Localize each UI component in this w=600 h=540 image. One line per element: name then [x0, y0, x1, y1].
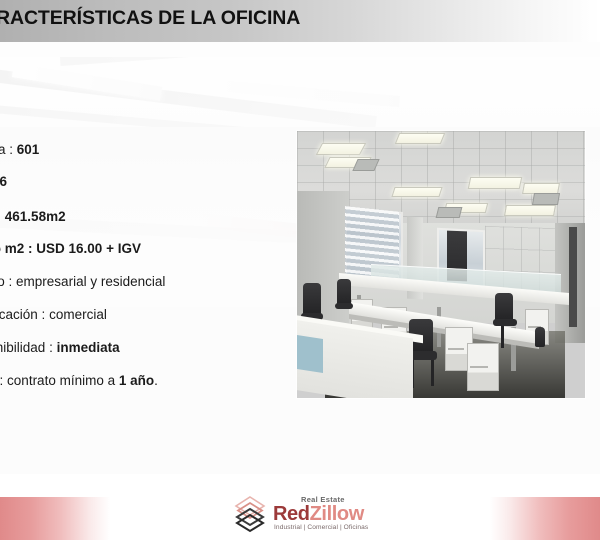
logo-word: RedZillow	[273, 503, 364, 526]
footer-band-right	[490, 497, 600, 540]
logo-tagline-bottom: Industrial | Comercial | Oficinas	[274, 524, 368, 531]
spec-item-area: rea : 461.58m2	[0, 209, 66, 224]
slide-content: ficina : 601 so : 6 rea : 461.58m2 ecio …	[0, 42, 600, 474]
spec-item-plazo: azo : contrato mínimo a 1 año.	[0, 373, 158, 388]
logo-word-red: Red	[273, 503, 310, 525]
spec-item-entorno: torno : empresarial y residencial	[0, 274, 165, 289]
logo-wordmark: Real Estate RedZillow Industrial | Comer…	[273, 494, 379, 534]
slide: ARACTERÍSTICAS DE LA OFICINA ficina : 60…	[0, 0, 600, 474]
spec-item-piso: so : 6	[0, 174, 7, 189]
office-interior-photo	[297, 131, 585, 398]
logo-word-zillow: Zillow	[310, 503, 364, 525]
spec-item-precio: ecio m2 : USD 16.00 + IGV	[0, 241, 141, 256]
stacked-diamond-logo-icon	[232, 495, 268, 533]
slide-header-bar: ARACTERÍSTICAS DE LA OFICINA	[0, 0, 600, 42]
spec-item-zonificacion: onificación : comercial	[0, 307, 107, 322]
page-title: ARACTERÍSTICAS DE LA OFICINA	[0, 7, 300, 30]
spec-item-oficina: ficina : 601	[0, 142, 39, 157]
spec-item-disponibilidad: sponibilidad : inmediata	[0, 340, 120, 355]
redzillow-logo: Real Estate RedZillow Industrial | Comer…	[232, 492, 382, 536]
footer-band-left	[0, 497, 110, 540]
